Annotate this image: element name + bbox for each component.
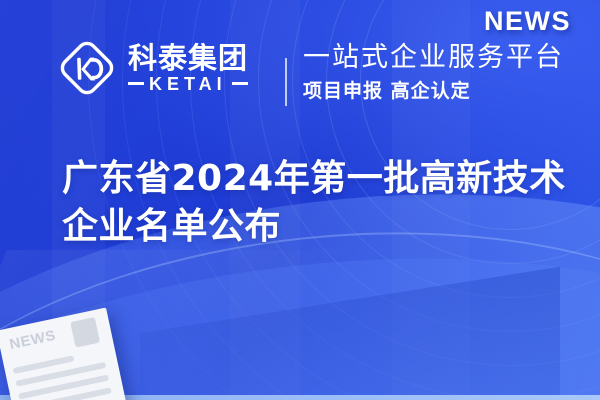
newspaper-photo-block <box>70 317 100 348</box>
tagline-block: 一站式企业服务平台 项目申报 高企认定 <box>303 42 564 103</box>
logo-rule-right <box>232 82 248 85</box>
news-badge: NEWS <box>484 6 571 37</box>
tagline-primary: 一站式企业服务平台 <box>303 42 564 74</box>
banner-header: 科泰集团 KETAI 一站式企业服务平台 项目申报 高企认定 NEWS <box>0 0 600 128</box>
diagonal-facet-right <box>140 267 560 400</box>
brand-name-en-row: KETAI <box>128 75 248 93</box>
brand-name-en: KETAI <box>149 75 227 93</box>
headline-title: 广东省2024年第一批高新技术企业名单公布 <box>62 155 572 251</box>
tagline-secondary: 项目申报 高企认定 <box>303 80 564 103</box>
logo-rule-left <box>128 82 144 85</box>
header-divider <box>285 58 287 106</box>
brand-logo[interactable]: 科泰集团 KETAI <box>57 38 248 98</box>
ketai-diamond-monogram-icon <box>57 38 117 98</box>
newspaper-illustration: NEWS <box>0 307 128 400</box>
brand-name-cn: 科泰集团 <box>128 44 248 73</box>
news-banner: 科泰集团 KETAI 一站式企业服务平台 项目申报 高企认定 NEWS 广东省2… <box>0 0 600 400</box>
brand-logo-text: 科泰集团 KETAI <box>128 44 248 93</box>
